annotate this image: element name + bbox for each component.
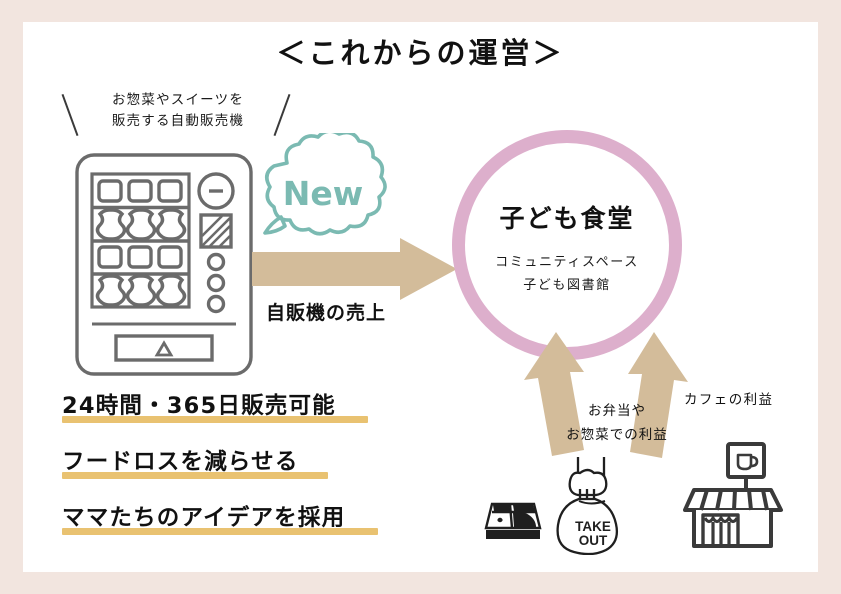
vending-machine-icon [74,152,254,381]
benefit-text-3: ママたちのアイデアを採用 [62,500,345,532]
bento-profit-label-line-2: お惣菜での利益 [542,424,692,448]
page-title: ＜これからの運営＞ [0,30,841,72]
sales-arrow-icon [252,238,457,304]
bento-profit-label: お弁当や お惣菜での利益 [542,400,692,447]
takeout-text-line-1: TAKE [575,519,611,534]
bento-box-icon [482,500,544,548]
hub-subtitle-2: 子ども図書館 [523,274,611,297]
benefit-text-2: フードロスを減らせる [62,444,299,476]
vending-caption-line-2: 販売する自動販売機 [88,111,268,132]
cafe-profit-label: カフェの利益 [684,388,773,408]
hub-circle-content: 子ども食堂 コミュニティスペース 子ども図書館 [452,130,682,360]
sales-arrow-label: 自販機の売上 [266,298,386,325]
hub-title: 子ども食堂 [499,199,634,235]
vending-machine-caption: お惣菜やスイーツを 販売する自動販売機 [88,90,268,132]
infographic-canvas: ＜これからの運営＞ お惣菜やスイーツを 販売する自動販売機 [0,0,841,594]
vending-caption-line-1: お惣菜やスイーツを [88,90,268,111]
benefit-text-1: 24時間・365日販売可能 [62,388,336,420]
new-badge-label: New [253,133,393,253]
cafe-storefront-icon [680,442,785,554]
bento-profit-label-line-1: お弁当や [542,400,692,424]
takeout-bag-icon: TAKE OUT [552,455,632,559]
hub-subtitle-1: コミュニティスペース [495,251,639,274]
takeout-text-line-2: OUT [579,533,608,548]
